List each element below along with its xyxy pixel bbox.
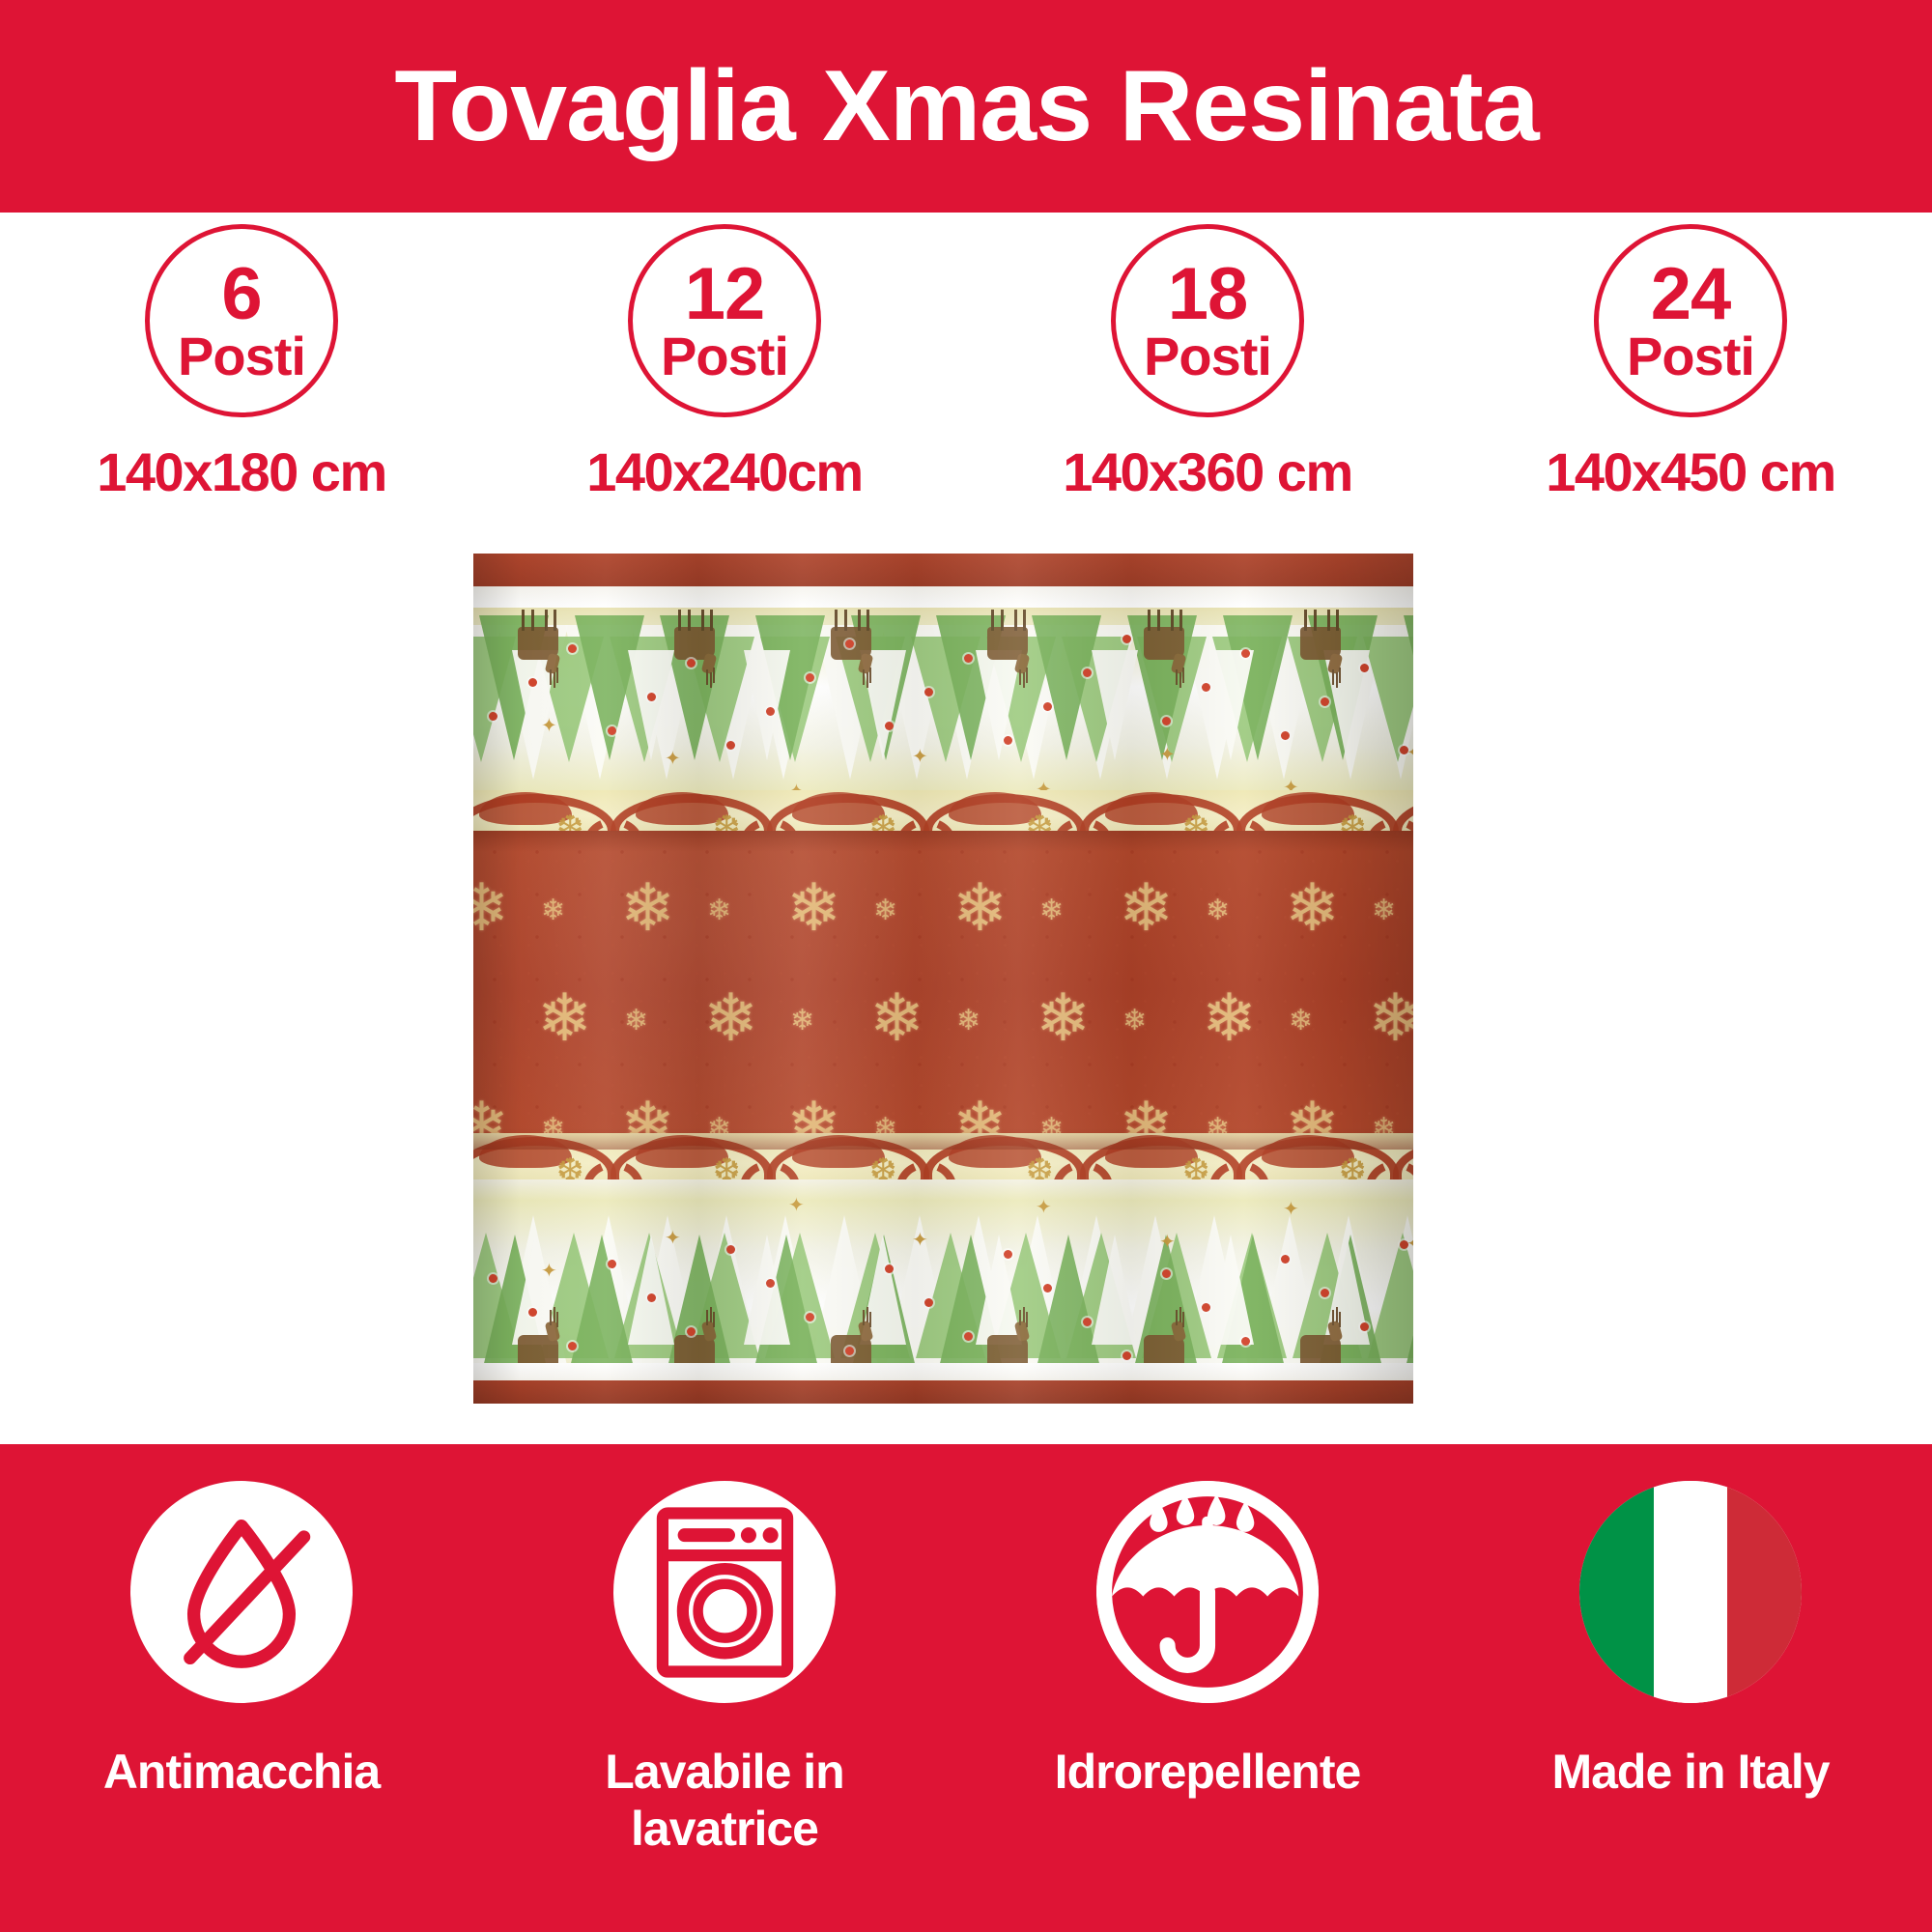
gold-snowflake-medallion: ❄ xyxy=(620,875,675,941)
size-dimensions: 140x450 cm xyxy=(1546,440,1835,503)
gold-snowflake-small: ❄ xyxy=(1206,896,1230,925)
washing-machine-icon xyxy=(640,1503,810,1682)
gold-star-icon: ✦ xyxy=(665,1229,681,1248)
pine-tree-icon xyxy=(628,650,674,760)
berry-dot xyxy=(1004,1250,1012,1259)
pine-tree-icon xyxy=(1207,650,1254,760)
berry-dot xyxy=(726,1245,735,1254)
feature-lavabile[interactable]: Lavabile in lavatrice xyxy=(483,1444,966,1932)
berry-dot xyxy=(1321,697,1329,706)
berry-dot xyxy=(964,1332,973,1341)
berry-dot xyxy=(845,639,854,648)
berry-dot xyxy=(1202,683,1210,692)
berry-dot xyxy=(647,1293,656,1302)
berry-dot xyxy=(924,1298,933,1307)
feature-badge xyxy=(1579,1481,1802,1703)
gold-star-icon: ✦ xyxy=(541,714,557,733)
seat-count-circle: 18 Posti xyxy=(1111,224,1304,417)
gold-snowflake-small: ❄ xyxy=(541,896,565,925)
gold-snowflake-medallion: ❄ xyxy=(537,985,592,1051)
seat-count-number: 6 xyxy=(221,260,261,330)
gold-snowflake-medallion: ❄ xyxy=(952,875,1008,941)
size-option-6[interactable]: 6 Posti 140x180 cm xyxy=(0,224,483,514)
features-row: Antimacchia Lavabile in lavatrice xyxy=(0,1444,1932,1932)
berry-dot xyxy=(1241,649,1250,658)
berry-dot xyxy=(1004,736,1012,745)
feature-badge xyxy=(130,1481,353,1703)
berry-dot xyxy=(1162,717,1171,725)
seat-count-circle: 6 Posti xyxy=(145,224,338,417)
pine-tree-icon xyxy=(1404,615,1413,760)
berry-dot xyxy=(806,1313,814,1321)
berry-dot xyxy=(1043,1284,1052,1293)
pine-tree-icon xyxy=(1092,1235,1138,1345)
feature-antimacchia[interactable]: Antimacchia xyxy=(0,1444,483,1932)
gold-snowflake-small: ❄ xyxy=(624,1007,648,1036)
title-banner: Tovaglia Xmas Resinata xyxy=(0,0,1932,213)
berry-dot xyxy=(1241,1337,1250,1346)
berry-dot xyxy=(687,659,696,668)
berry-dot xyxy=(1281,731,1290,740)
gold-snowflake-small: ❄ xyxy=(790,1007,814,1036)
product-infographic: Tovaglia Xmas Resinata 6 Posti 140x180 c… xyxy=(0,0,1932,1932)
gold-snowflake-medallion: ❄ xyxy=(473,875,509,941)
feature-label: Idrorepellente xyxy=(1055,1744,1361,1801)
berry-dot xyxy=(647,693,656,701)
seat-count-number: 18 xyxy=(1168,260,1248,330)
gold-snowflake-medallion: ❄ xyxy=(1368,985,1413,1051)
pine-tree-icon xyxy=(567,1235,637,1379)
gold-snowflake-medallion: ❄ xyxy=(703,985,758,1051)
berry-dot xyxy=(1321,1289,1329,1297)
size-option-18[interactable]: 18 Posti 140x360 cm xyxy=(966,224,1449,514)
size-option-12[interactable]: 12 Posti 140x240cm xyxy=(483,224,966,514)
berry-dot xyxy=(1043,702,1052,711)
no-stain-droplet-icon xyxy=(150,1500,333,1684)
gold-snowflake-small: ❄ xyxy=(1289,1007,1313,1036)
berry-dot xyxy=(1202,1303,1210,1312)
berry-dot xyxy=(528,1308,537,1317)
size-option-24[interactable]: 24 Posti 140x450 cm xyxy=(1449,224,1932,514)
gold-snowflake-medallion: ❄ xyxy=(786,875,841,941)
berry-dot xyxy=(964,654,973,663)
berry-dot xyxy=(1122,1351,1131,1360)
feature-badge xyxy=(613,1481,836,1703)
deer-icon xyxy=(1300,627,1341,660)
berry-dot xyxy=(608,726,616,735)
cloth-bottom-hem xyxy=(473,1380,1413,1404)
feature-made-in-italy[interactable]: Made in Italy xyxy=(1449,1444,1932,1932)
berry-dot xyxy=(726,741,735,750)
size-dimensions: 140x360 cm xyxy=(1063,440,1352,503)
gold-star-icon: ✦ xyxy=(665,747,681,766)
cloth-bottom-forest-border: ✦✦✦✦✦✦✦✦ xyxy=(473,1179,1413,1387)
gold-snowflake-small: ❄ xyxy=(1122,1007,1147,1036)
berry-dot xyxy=(845,1347,854,1355)
italian-flag-icon xyxy=(1579,1481,1802,1703)
flag-band-green xyxy=(1579,1481,1654,1703)
gold-star-icon: ✦ xyxy=(1406,741,1413,760)
berry-dot xyxy=(568,644,577,653)
cloth-top-white-edge xyxy=(473,586,1413,608)
page-title: Tovaglia Xmas Resinata xyxy=(394,56,1538,156)
feature-label: Antimacchia xyxy=(103,1744,380,1801)
cloth-top-hem xyxy=(473,554,1413,586)
pine-tree-icon xyxy=(744,650,790,760)
gold-star-icon: ✦ xyxy=(1036,1198,1052,1217)
seat-count-circle: 24 Posti xyxy=(1594,224,1787,417)
gold-snowflake-medallion: ❄ xyxy=(1119,875,1174,941)
seat-count-unit: Posti xyxy=(1627,330,1754,383)
feature-idrorepellente[interactable]: Idrorepellente xyxy=(966,1444,1449,1932)
umbrella-rain-icon xyxy=(1096,1481,1319,1703)
berry-dot xyxy=(1122,635,1131,643)
gold-star-icon: ✦ xyxy=(1406,1235,1413,1254)
berry-dot xyxy=(766,707,775,716)
berry-dot xyxy=(1360,664,1369,672)
deer-icon xyxy=(518,627,558,660)
berry-dot xyxy=(1162,1269,1171,1278)
seat-count-unit: Posti xyxy=(1144,330,1271,383)
gold-snowflake-medallion: ❄ xyxy=(1202,985,1257,1051)
berry-dot xyxy=(924,688,933,696)
gold-star-icon: ✦ xyxy=(912,745,928,764)
size-options-row: 6 Posti 140x180 cm 12 Posti 140x240cm 18… xyxy=(0,224,1932,514)
berry-dot xyxy=(1281,1255,1290,1264)
gold-snowflake-medallion: ❄ xyxy=(1285,875,1340,941)
deer-icon xyxy=(987,627,1028,660)
berry-dot xyxy=(608,1260,616,1268)
pine-tree-icon xyxy=(628,1235,674,1345)
pine-tree-icon xyxy=(744,1235,790,1345)
cloth-texture xyxy=(473,831,1413,1150)
pine-tree-icon xyxy=(1207,1235,1254,1345)
tablecloth-image: ✦✦✦✦✦✦✦✦ ❆❆❆❆❆❆ ❄❄❄❄❄❄❄❄❄❄❄❄❄❄❄❄❄❄❄❄❄❄❄❄… xyxy=(473,554,1413,1404)
cloth-top-forest-border: ✦✦✦✦✦✦✦✦ xyxy=(473,608,1413,815)
pine-tree-icon xyxy=(1403,1235,1413,1379)
product-photo: ✦✦✦✦✦✦✦✦ ❆❆❆❆❆❆ ❄❄❄❄❄❄❄❄❄❄❄❄❄❄❄❄❄❄❄❄❄❄❄❄… xyxy=(473,554,1413,1404)
berry-dot xyxy=(1083,1318,1092,1326)
gold-snowflake-medallion: ❄ xyxy=(869,985,924,1051)
gold-star-icon: ✦ xyxy=(541,1262,557,1281)
feature-label: Made in Italy xyxy=(1551,1744,1829,1801)
gold-star-icon: ✦ xyxy=(1283,1200,1299,1219)
berry-dot xyxy=(489,712,497,721)
berry-dot xyxy=(528,678,537,687)
gold-star-icon: ✦ xyxy=(1159,1233,1176,1252)
pine-tree-icon xyxy=(1092,650,1138,760)
feature-label: Lavabile in lavatrice xyxy=(560,1744,889,1858)
gold-snowflake-small: ❄ xyxy=(1372,896,1396,925)
gold-snowflake-small: ❄ xyxy=(956,1007,980,1036)
seat-count-unit: Posti xyxy=(661,330,788,383)
seat-count-number: 12 xyxy=(685,260,765,330)
gold-star-icon: ✦ xyxy=(1159,743,1176,762)
cloth-center-shadow-bottom xyxy=(473,1128,1413,1150)
size-dimensions: 140x240cm xyxy=(586,440,862,503)
berry-dot xyxy=(489,1274,497,1283)
berry-dot xyxy=(1083,668,1092,677)
berry-dot xyxy=(1360,1322,1369,1331)
seat-count-unit: Posti xyxy=(178,330,305,383)
cloth-center-field: ❄❄❄❄❄❄❄❄❄❄❄❄❄❄❄❄❄❄❄❄❄❄❄❄❄❄❄❄❄❄❄❄❄❄❄❄❄❄❄❄ xyxy=(473,831,1413,1150)
seat-count-circle: 12 Posti xyxy=(628,224,821,417)
features-banner: Antimacchia Lavabile in lavatrice xyxy=(0,1444,1932,1932)
flag-band-red xyxy=(1727,1481,1802,1703)
cloth-center-shadow-top xyxy=(473,831,1413,852)
flag-band-white xyxy=(1654,1481,1728,1703)
gold-snowflake-small: ❄ xyxy=(1039,896,1064,925)
deer-icon xyxy=(674,627,715,660)
gold-snowflake-small: ❄ xyxy=(873,896,897,925)
berry-dot xyxy=(568,1342,577,1350)
berry-dot xyxy=(806,673,814,682)
berry-dot xyxy=(885,722,894,730)
gold-star-icon: ✦ xyxy=(788,1196,805,1215)
feature-badge xyxy=(1096,1481,1319,1703)
berry-dot xyxy=(687,1327,696,1336)
gold-snowflake-small: ❄ xyxy=(707,896,731,925)
gold-snowflake-medallion: ❄ xyxy=(1036,985,1091,1051)
berry-dot xyxy=(766,1279,775,1288)
berry-dot xyxy=(885,1264,894,1273)
gold-star-icon: ✦ xyxy=(912,1231,928,1250)
deer-icon xyxy=(1144,627,1184,660)
size-dimensions: 140x180 cm xyxy=(97,440,386,503)
seat-count-number: 24 xyxy=(1651,260,1731,330)
